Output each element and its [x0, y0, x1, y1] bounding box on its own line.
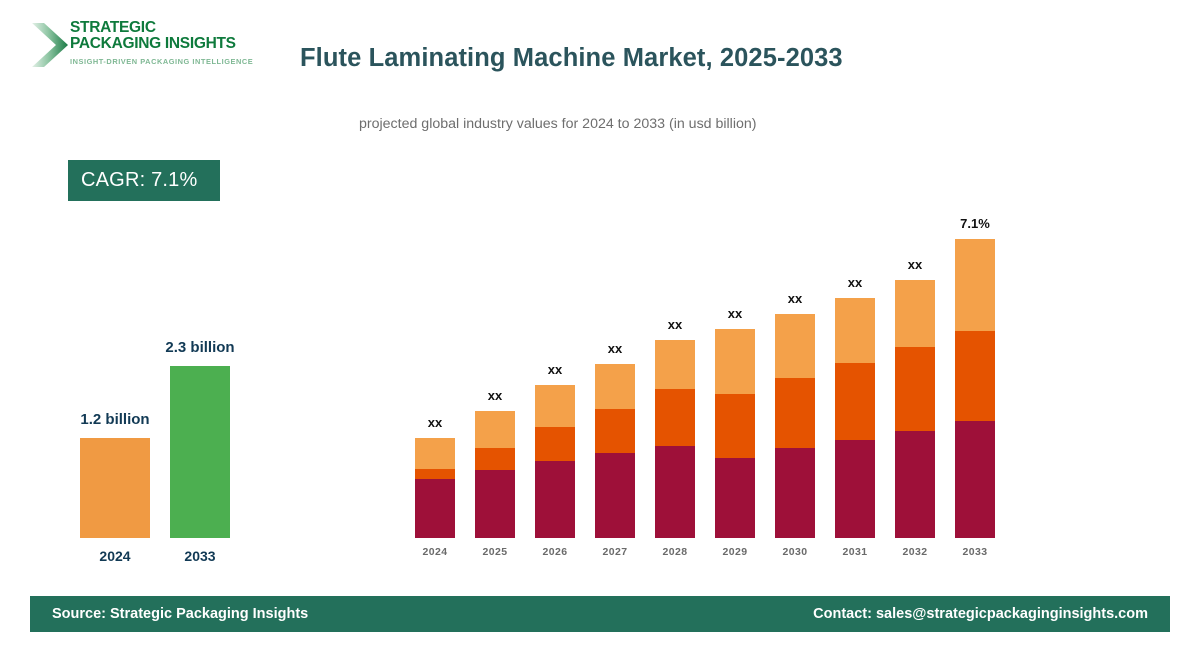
- stacked-bar-year: 2032: [895, 546, 935, 558]
- bar-segment-top: [595, 364, 635, 409]
- logo-line-2: PACKAGING INSIGHTS: [70, 36, 253, 52]
- bar-segment-bottom: [955, 421, 995, 538]
- stacked-bar: [535, 385, 575, 538]
- footer-bar: Source: Strategic Packaging Insights Con…: [30, 596, 1170, 632]
- footer-source: Source: Strategic Packaging Insights: [52, 606, 308, 622]
- stacked-bar-year: 2031: [835, 546, 875, 558]
- stacked-bar: [895, 280, 935, 538]
- bar-segment-top: [715, 329, 755, 394]
- logo-tagline: INSIGHT-DRIVEN PACKAGING INTELLIGENCE: [70, 57, 253, 66]
- stacked-bar-value: xx: [835, 275, 875, 290]
- stacked-bar-year: 2025: [475, 546, 515, 558]
- stacked-bar-year: 2033: [955, 546, 995, 558]
- stacked-bar-value: xx: [475, 388, 515, 403]
- bar-segment-middle: [595, 409, 635, 453]
- stacked-bar-group: xx2032: [895, 212, 935, 560]
- stacked-bar-value: xx: [775, 291, 815, 306]
- stacked-bar: [835, 298, 875, 538]
- stacked-bar: [775, 314, 815, 538]
- stacked-bar-year: 2028: [655, 546, 695, 558]
- stacked-bar: [655, 340, 695, 538]
- bar-segment-top: [835, 298, 875, 363]
- stacked-bar-value: xx: [595, 341, 635, 356]
- bar-segment-bottom: [715, 458, 755, 538]
- logo-wordmark: STRATEGIC PACKAGING INSIGHTS INSIGHT-DRI…: [70, 20, 253, 66]
- stacked-bar: [415, 438, 455, 538]
- stacked-bar-value: xx: [535, 362, 575, 377]
- bar-segment-bottom: [535, 461, 575, 538]
- stacked-bar-year: 2027: [595, 546, 635, 558]
- stacked-bar-group: xx2031: [835, 212, 875, 560]
- cagr-badge: CAGR: 7.1%: [68, 160, 220, 201]
- bar-segment-bottom: [775, 448, 815, 538]
- stacked-bar-year: 2029: [715, 546, 755, 558]
- stacked-bar-group: xx2029: [715, 212, 755, 560]
- bar-segment-top: [535, 385, 575, 427]
- footer-contact: Contact: sales@strategicpackaginginsight…: [813, 606, 1148, 622]
- comparison-bar: [80, 438, 150, 538]
- comparison-bar-value: 1.2 billion: [55, 411, 175, 428]
- stacked-bar: [595, 364, 635, 538]
- bar-segment-bottom: [595, 453, 635, 538]
- bar-segment-bottom: [835, 440, 875, 538]
- bar-segment-middle: [535, 427, 575, 461]
- logo-line-1: STRATEGIC: [70, 20, 253, 36]
- cagr-badge-label: CAGR: 7.1%: [81, 169, 197, 192]
- bar-segment-middle: [775, 378, 815, 448]
- bar-segment-top: [475, 411, 515, 448]
- bar-segment-top: [775, 314, 815, 378]
- stacked-bar-value: xx: [655, 317, 695, 332]
- stacked-bar-group: xx2027: [595, 212, 635, 560]
- comparison-bar-value: 2.3 billion: [145, 339, 255, 356]
- stacked-bar-group: 7.1%2033: [955, 212, 995, 560]
- stacked-bar-group: xx2030: [775, 212, 815, 560]
- brand-logo: STRATEGIC PACKAGING INSIGHTS INSIGHT-DRI…: [30, 14, 280, 76]
- stacked-bar-year: 2024: [415, 546, 455, 558]
- bar-segment-top: [955, 239, 995, 331]
- page-subtitle: projected global industry values for 202…: [359, 116, 757, 132]
- bar-segment-middle: [475, 448, 515, 470]
- stacked-bar: [715, 329, 755, 538]
- stacked-bar-year: 2026: [535, 546, 575, 558]
- bar-segment-bottom: [415, 479, 455, 538]
- bar-segment-top: [895, 280, 935, 347]
- bar-segment-top: [415, 438, 455, 469]
- page-title: Flute Laminating Machine Market, 2025-20…: [300, 44, 843, 73]
- comparison-chart: 1.2 billion20242.3 billion2033: [0, 300, 320, 570]
- bar-segment-middle: [835, 363, 875, 440]
- comparison-bar: [170, 366, 230, 538]
- bar-segment-middle: [955, 331, 995, 421]
- stacked-bar: [475, 411, 515, 538]
- bar-segment-middle: [895, 347, 935, 431]
- stacked-bar-group: xx2028: [655, 212, 695, 560]
- stacked-bar-value: xx: [715, 306, 755, 321]
- comparison-bar-year: 2033: [145, 548, 255, 564]
- bar-segment-middle: [655, 389, 695, 446]
- stacked-bar-group: xx2025: [475, 212, 515, 560]
- stacked-bar-group: xx2024: [415, 212, 455, 560]
- stacked-bar-year: 2030: [775, 546, 815, 558]
- bar-segment-bottom: [475, 470, 515, 538]
- stacked-bar-value: xx: [895, 257, 935, 272]
- bar-segment-middle: [715, 394, 755, 458]
- stacked-bar-value: 7.1%: [955, 216, 995, 231]
- stacked-bar-chart: xx2024xx2025xx2026xx2027xx2028xx2029xx20…: [400, 190, 1020, 560]
- stacked-bar: [955, 239, 995, 538]
- bar-segment-middle: [415, 469, 455, 479]
- stacked-bar-value: xx: [415, 415, 455, 430]
- bar-segment-bottom: [895, 431, 935, 538]
- bar-segment-bottom: [655, 446, 695, 538]
- bar-segment-top: [655, 340, 695, 389]
- stacked-bar-group: xx2026: [535, 212, 575, 560]
